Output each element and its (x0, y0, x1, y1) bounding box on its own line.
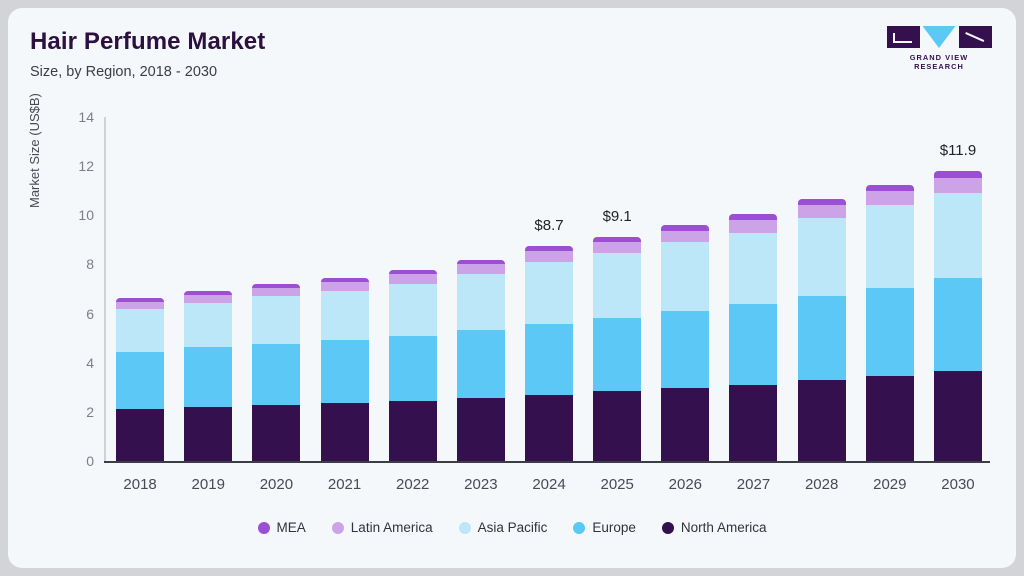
bar-segment-latin-america[interactable] (389, 274, 437, 283)
bar-column[interactable]: $11.9 (924, 117, 992, 461)
bar-segment-latin-america[interactable] (321, 282, 369, 291)
x-tick-label: 2019 (174, 476, 242, 493)
x-tick-label: 2029 (856, 476, 924, 493)
legend-swatch-icon (573, 522, 585, 534)
bar-stack[interactable] (321, 278, 369, 461)
y-tick-label: 8 (58, 256, 94, 272)
bar-column[interactable] (856, 117, 924, 461)
bar-stack[interactable] (866, 185, 914, 461)
bar-segment-asia-pacific[interactable] (116, 309, 164, 352)
bar-segment-latin-america[interactable] (184, 295, 232, 303)
chart-card: Hair Perfume Market Size, by Region, 201… (8, 8, 1016, 568)
legend-swatch-icon (459, 522, 471, 534)
legend-label: MEA (277, 520, 306, 535)
bar-column[interactable] (106, 117, 174, 461)
bar-segment-asia-pacific[interactable] (934, 193, 982, 278)
bar-segment-mea[interactable] (798, 199, 846, 206)
x-tick-label: 2023 (447, 476, 515, 493)
bar-stack[interactable] (798, 199, 846, 461)
bar-stack[interactable] (389, 270, 437, 461)
bars-area: $8.7$9.1$11.9 (106, 117, 992, 461)
bar-segment-latin-america[interactable] (116, 302, 164, 309)
bar-segment-latin-america[interactable] (934, 178, 982, 193)
x-axis-labels: 2018201920202021202220232024202520262027… (106, 476, 992, 493)
bar-stack[interactable] (184, 291, 232, 461)
x-tick-label: 2021 (310, 476, 378, 493)
legend-item-europe[interactable]: Europe (573, 520, 636, 535)
bar-segment-asia-pacific[interactable] (593, 253, 641, 318)
bar-segment-north-america[interactable] (457, 398, 505, 461)
bar-segment-mea[interactable] (866, 185, 914, 192)
bar-segment-north-america[interactable] (184, 407, 232, 461)
x-tick-label: 2028 (788, 476, 856, 493)
bar-segment-mea[interactable] (934, 171, 982, 178)
bar-segment-europe[interactable] (798, 296, 846, 381)
bar-column[interactable]: $8.7 (515, 117, 583, 461)
bar-column[interactable] (242, 117, 310, 461)
bar-segment-asia-pacific[interactable] (729, 233, 777, 304)
y-tick-label: 2 (58, 404, 94, 420)
y-axis-ticks: 14121086420 (58, 8, 94, 568)
bar-segment-latin-america[interactable] (457, 264, 505, 274)
bar-segment-latin-america[interactable] (798, 205, 846, 218)
bar-segment-latin-america[interactable] (729, 220, 777, 232)
bar-segment-asia-pacific[interactable] (389, 284, 437, 336)
x-tick-label: 2024 (515, 476, 583, 493)
legend-item-latin-america[interactable]: Latin America (332, 520, 433, 535)
y-tick-label: 12 (58, 158, 94, 174)
bar-segment-north-america[interactable] (525, 395, 573, 461)
bar-segment-asia-pacific[interactable] (525, 262, 573, 325)
bar-segment-asia-pacific[interactable] (661, 242, 709, 310)
stacked-bar-chart: Market Size (US$B) 14121086420 $8.7$9.1$… (8, 8, 1016, 568)
legend-item-mea[interactable]: MEA (258, 520, 306, 535)
bar-segment-north-america[interactable] (729, 385, 777, 461)
bar-column[interactable] (719, 117, 787, 461)
bar-segment-europe[interactable] (525, 324, 573, 395)
bar-value-label: $11.9 (940, 142, 976, 159)
bar-segment-north-america[interactable] (866, 376, 914, 461)
bar-column[interactable] (174, 117, 242, 461)
bar-segment-north-america[interactable] (934, 371, 982, 461)
y-tick-label: 0 (58, 453, 94, 469)
bar-segment-latin-america[interactable] (661, 231, 709, 243)
bar-segment-europe[interactable] (389, 336, 437, 401)
bar-stack[interactable] (252, 284, 300, 461)
bar-segment-latin-america[interactable] (593, 242, 641, 253)
x-tick-label: 2030 (924, 476, 992, 493)
legend-label: North America (681, 520, 767, 535)
legend-swatch-icon (332, 522, 344, 534)
x-tick-label: 2018 (106, 476, 174, 493)
y-axis-label: Market Size (US$B) (27, 93, 42, 208)
bar-segment-asia-pacific[interactable] (798, 218, 846, 295)
bar-value-label: $8.7 (534, 217, 563, 234)
bar-segment-europe[interactable] (866, 288, 914, 376)
bar-segment-north-america[interactable] (798, 380, 846, 461)
y-tick-label: 4 (58, 355, 94, 371)
bar-segment-europe[interactable] (593, 318, 641, 391)
bar-segment-latin-america[interactable] (252, 288, 300, 296)
bar-column[interactable] (379, 117, 447, 461)
bar-stack[interactable] (729, 214, 777, 461)
y-tick-label: 6 (58, 306, 94, 322)
x-tick-label: 2022 (379, 476, 447, 493)
bar-value-label: $9.1 (603, 208, 632, 225)
bar-segment-north-america[interactable] (389, 401, 437, 461)
bar-stack[interactable] (116, 298, 164, 461)
legend-swatch-icon (662, 522, 674, 534)
x-axis-line (104, 461, 990, 463)
x-tick-label: 2026 (651, 476, 719, 493)
bar-segment-north-america[interactable] (116, 409, 164, 461)
bar-stack[interactable] (934, 171, 982, 461)
bar-segment-asia-pacific[interactable] (184, 303, 232, 347)
bar-stack[interactable] (525, 246, 573, 461)
legend-item-north-america[interactable]: North America (662, 520, 767, 535)
bar-stack[interactable] (593, 237, 641, 461)
legend-swatch-icon (258, 522, 270, 534)
bar-column[interactable] (310, 117, 378, 461)
bar-segment-north-america[interactable] (252, 405, 300, 461)
bar-segment-latin-america[interactable] (866, 191, 914, 205)
bar-segment-europe[interactable] (934, 278, 982, 371)
legend-label: Latin America (351, 520, 433, 535)
bar-segment-europe[interactable] (321, 340, 369, 403)
bar-column[interactable] (788, 117, 856, 461)
bar-segment-europe[interactable] (252, 344, 300, 405)
bar-segment-europe[interactable] (729, 304, 777, 385)
bar-column[interactable] (651, 117, 719, 461)
bar-stack[interactable] (457, 260, 505, 461)
bar-segment-europe[interactable] (184, 347, 232, 407)
y-tick-label: 10 (58, 207, 94, 223)
legend-label: Asia Pacific (478, 520, 548, 535)
x-tick-label: 2020 (242, 476, 310, 493)
bar-segment-asia-pacific[interactable] (866, 205, 914, 287)
x-tick-label: 2025 (583, 476, 651, 493)
bar-segment-north-america[interactable] (321, 403, 369, 461)
bar-segment-asia-pacific[interactable] (321, 291, 369, 340)
chart-legend: MEALatin AmericaAsia PacificEuropeNorth … (8, 520, 1016, 535)
bar-segment-europe[interactable] (661, 311, 709, 388)
y-tick-label: 14 (58, 109, 94, 125)
bar-column[interactable]: $9.1 (583, 117, 651, 461)
bar-segment-north-america[interactable] (593, 391, 641, 461)
bar-segment-north-america[interactable] (661, 388, 709, 461)
bar-column[interactable] (447, 117, 515, 461)
bar-segment-europe[interactable] (116, 352, 164, 410)
legend-label: Europe (592, 520, 636, 535)
legend-item-asia-pacific[interactable]: Asia Pacific (459, 520, 548, 535)
bar-segment-asia-pacific[interactable] (252, 296, 300, 343)
x-tick-label: 2027 (719, 476, 787, 493)
bar-segment-latin-america[interactable] (525, 251, 573, 261)
bar-segment-asia-pacific[interactable] (457, 274, 505, 329)
bar-stack[interactable] (661, 225, 709, 461)
bar-segment-europe[interactable] (457, 330, 505, 398)
